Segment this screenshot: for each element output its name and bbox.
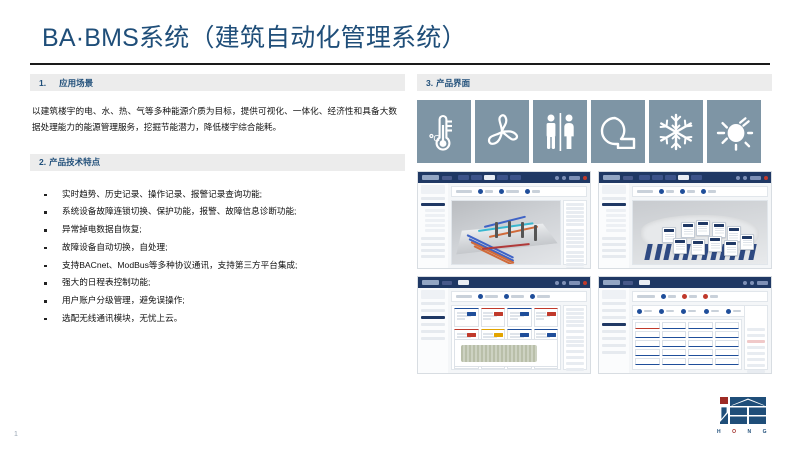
feature-bullet-list: 实时趋势、历史记录、操作记录、报警记录查询功能; 系统设备故障连锁切换、保护功能…	[30, 186, 405, 328]
sidebar-item[interactable]	[606, 209, 626, 212]
sidebar-item[interactable]	[425, 214, 445, 217]
tab[interactable]	[510, 175, 521, 180]
tab-active[interactable]	[458, 280, 469, 285]
logo-letter: G	[763, 429, 767, 435]
app-logo	[422, 175, 439, 180]
sidebar-header	[602, 290, 626, 299]
sidebar-item[interactable]	[421, 197, 445, 200]
app-tabbar[interactable]	[458, 175, 521, 180]
right-data-panel[interactable]	[744, 305, 768, 370]
sidebar-item[interactable]	[421, 330, 445, 333]
logo-letter: O	[732, 429, 736, 435]
floor-3d-device-tags-view[interactable]	[598, 171, 772, 269]
fan-blade-icon	[475, 100, 529, 163]
table-row[interactable]	[662, 322, 687, 329]
toolbar-stat[interactable]	[661, 294, 676, 299]
sidebar-item[interactable]	[421, 309, 445, 312]
list-item: 异常掉电数据自恢复;	[30, 221, 405, 239]
duct-3d-canvas[interactable]	[451, 200, 561, 265]
sidebar-item[interactable]	[602, 302, 626, 305]
section-number-1: 1.	[39, 78, 46, 88]
table-row[interactable]	[715, 331, 740, 338]
sidebar-item[interactable]	[602, 316, 626, 319]
interface-icon-strip: C	[417, 100, 772, 163]
right-column: 3. 产品界面 C	[417, 74, 772, 374]
tab[interactable]	[471, 175, 482, 180]
sidebar-item[interactable]	[421, 337, 445, 340]
list-item: 实时趋势、历史记录、操作记录、报警记录查询功能;	[30, 186, 405, 204]
user-menu[interactable]	[750, 176, 761, 180]
device-tag-card[interactable]	[708, 236, 722, 252]
sidebar-item[interactable]	[602, 330, 626, 333]
app-sidebar[interactable]	[599, 183, 630, 268]
left-column: 1. 应用场景 以建筑楼宇的电、水、热、气等多种能源介质为目标，提供可视化、一体…	[30, 74, 405, 327]
table-row[interactable]	[715, 322, 740, 329]
toolbar-stat[interactable]	[504, 294, 524, 299]
user-menu[interactable]	[569, 176, 580, 180]
sidebar-item[interactable]	[606, 224, 626, 227]
sidebar-item[interactable]	[602, 344, 626, 347]
device-card[interactable]	[507, 308, 532, 327]
sidebar-item[interactable]	[606, 229, 626, 232]
table-row[interactable]	[662, 340, 687, 347]
toolbar-stat[interactable]	[659, 189, 674, 194]
status-chip[interactable]	[681, 309, 696, 314]
app-tabbar[interactable]	[458, 280, 469, 285]
table-row[interactable]	[635, 358, 660, 365]
content-toolbar[interactable]	[451, 291, 587, 302]
device-tag-card[interactable]	[681, 222, 695, 238]
tab[interactable]	[691, 175, 702, 180]
sidebar-header	[602, 185, 626, 194]
section-title-interface: 产品界面	[436, 77, 470, 89]
table-row[interactable]	[688, 358, 713, 365]
page-title: BA·BMS系统（建筑自动化管理系统）	[42, 18, 467, 54]
list-item: 支持BACnet、ModBus等多种协议通讯，支持第三方平台集成;	[30, 257, 405, 275]
toolbar-title	[456, 295, 472, 298]
device-tag-card[interactable]	[724, 240, 738, 256]
tab-active[interactable]	[484, 175, 495, 180]
sidebar-item[interactable]	[421, 249, 445, 252]
floor-3d-canvas[interactable]	[632, 200, 768, 265]
table-row[interactable]	[715, 358, 740, 365]
table-row[interactable]	[662, 349, 687, 356]
sidebar-item-selected[interactable]	[421, 316, 445, 319]
logo-wordmark: H O N G	[717, 429, 767, 435]
sidebar-item[interactable]	[602, 237, 626, 240]
sidebar-item[interactable]	[606, 219, 626, 222]
title-divider	[30, 63, 770, 65]
table-row[interactable]	[715, 349, 740, 356]
user-menu[interactable]	[757, 281, 768, 285]
content-toolbar[interactable]	[632, 186, 768, 197]
sidebar-item[interactable]	[602, 197, 626, 200]
table-body	[635, 322, 739, 365]
section-title-scenario: 应用场景	[59, 77, 93, 89]
device-tag-card[interactable]	[740, 234, 754, 250]
device-tag-card[interactable]	[691, 239, 705, 255]
icon-button[interactable]	[555, 281, 559, 285]
tab-active[interactable]	[639, 280, 650, 285]
app-content	[448, 183, 590, 268]
status-chip[interactable]	[726, 309, 741, 314]
list-item: 系统设备故障连锁切换、保护功能，报警、故障信息诊断功能;	[30, 203, 405, 221]
equipment-table-list-view[interactable]	[598, 276, 772, 374]
sidebar-item-selected[interactable]	[421, 203, 445, 206]
app-sidebar[interactable]	[418, 183, 449, 268]
snowflake-cooling-icon	[649, 100, 703, 163]
icon-button[interactable]	[562, 176, 566, 180]
sidebar-header	[421, 290, 445, 299]
app-titlebar-actions[interactable]	[555, 176, 587, 180]
icon-button[interactable]	[562, 281, 566, 285]
device-tag-card[interactable]	[696, 220, 710, 236]
toolbar-stat[interactable]	[530, 294, 550, 299]
toolbar-stat-alarm[interactable]	[703, 294, 718, 299]
status-chip[interactable]	[659, 309, 674, 314]
equipment-table[interactable]	[632, 319, 742, 370]
sidebar-item[interactable]	[602, 309, 626, 312]
sidebar-item[interactable]	[421, 243, 445, 246]
toolbar-title	[637, 190, 653, 193]
scenario-paragraph: 以建筑楼宇的电、水、热、气等多种能源介质为目标，提供可视化、一体化、经济性和具备…	[30, 104, 405, 136]
company-logo: H O N G	[714, 396, 770, 438]
app-sidebar[interactable]	[418, 288, 449, 373]
toolbar-stat[interactable]	[525, 189, 540, 194]
list-item: 用户账户分级管理，避免误操作;	[30, 292, 405, 310]
table-row[interactable]	[662, 358, 687, 365]
app-tabbar[interactable]	[639, 280, 650, 285]
section-header-scenario: 1. 应用场景	[30, 74, 405, 91]
toolbar-stat[interactable]	[499, 189, 519, 194]
device-card[interactable]	[534, 308, 559, 327]
sidebar-item[interactable]	[602, 255, 626, 258]
card-grid-panel[interactable]	[451, 305, 561, 370]
section-header-interface: 3. 产品界面	[417, 74, 772, 91]
app-logo	[603, 175, 620, 180]
page-number: 1	[14, 431, 18, 438]
floor-3d-scene	[633, 201, 767, 264]
right-data-panel[interactable]	[563, 305, 587, 370]
app-titlebar-actions[interactable]	[743, 281, 768, 285]
table-row[interactable]	[635, 340, 660, 347]
thermometer-celsius-icon: C	[417, 100, 471, 163]
device-status-card-grid-view[interactable]	[417, 276, 591, 374]
section-title-features: 产品技术特点	[49, 156, 100, 168]
toolbar-stat[interactable]	[680, 189, 695, 194]
app-sidebar[interactable]	[599, 288, 630, 373]
device-card[interactable]	[481, 308, 506, 327]
icon-button[interactable]	[736, 176, 740, 180]
sidebar-item[interactable]	[606, 214, 626, 217]
restroom-occupancy-icon	[533, 100, 587, 163]
sidebar-item[interactable]	[425, 209, 445, 212]
tab[interactable]	[639, 175, 650, 180]
list-item: 故障设备自动切换，自处理;	[30, 239, 405, 257]
icon-button[interactable]	[743, 281, 747, 285]
toolbar-stat[interactable]	[478, 294, 498, 299]
icon-button[interactable]	[555, 176, 559, 180]
close-icon[interactable]	[583, 176, 587, 180]
sidebar-item[interactable]	[602, 351, 626, 354]
sidebar-item-selected[interactable]	[602, 323, 626, 326]
tab[interactable]	[458, 175, 469, 180]
table-row[interactable]	[635, 331, 660, 338]
sidebar-item[interactable]	[425, 224, 445, 227]
close-icon[interactable]	[764, 176, 768, 180]
table-row[interactable]	[662, 331, 687, 338]
table-row[interactable]	[688, 331, 713, 338]
toolbar-stat[interactable]	[478, 189, 493, 194]
table-row[interactable]	[688, 349, 713, 356]
app-logo	[603, 280, 620, 285]
section-header-features: 2. 产品技术特点	[30, 154, 405, 171]
app-content	[448, 288, 590, 373]
duct-3d-scene	[452, 201, 560, 264]
app-subtitle	[442, 176, 452, 180]
sidebar-item-selected[interactable]	[602, 203, 626, 206]
sidebar-item[interactable]	[602, 243, 626, 246]
app-subtitle	[623, 281, 633, 285]
app-titlebar-actions[interactable]	[736, 176, 768, 180]
sidebar-item[interactable]	[425, 229, 445, 232]
toolbar-title	[637, 295, 655, 298]
table-row[interactable]	[688, 340, 713, 347]
table-row[interactable]	[688, 322, 713, 329]
device-tag-card[interactable]	[673, 238, 687, 254]
slide-root: BA·BMS系统（建筑自动化管理系统） 1. 应用场景 以建筑楼宇的电、水、热、…	[0, 0, 800, 450]
status-chip[interactable]	[704, 309, 719, 314]
sidebar-item[interactable]	[421, 255, 445, 258]
tab[interactable]	[652, 175, 663, 180]
list-item: 强大的日程表控制功能;	[30, 274, 405, 292]
app-logo	[422, 280, 439, 285]
section-number-3: 3.	[426, 78, 433, 88]
status-chip[interactable]	[637, 309, 652, 314]
right-data-panel[interactable]	[563, 200, 587, 265]
sidebar-header	[421, 185, 445, 194]
toolbar-title	[456, 190, 472, 193]
table-row[interactable]	[715, 340, 740, 347]
app-content	[629, 183, 771, 268]
content-toolbar[interactable]	[451, 186, 587, 197]
sidebar-item[interactable]	[421, 302, 445, 305]
app-subtitle	[623, 176, 633, 180]
logo-mark	[714, 396, 770, 426]
icon-button[interactable]	[750, 281, 754, 285]
section-number-2: 2.	[39, 157, 46, 167]
sidebar-item[interactable]	[425, 219, 445, 222]
svg-text:C: C	[433, 133, 440, 143]
floor-plan-graphic	[461, 345, 536, 362]
sidebar-item[interactable]	[421, 237, 445, 240]
tab[interactable]	[497, 175, 508, 180]
sidebar-item[interactable]	[421, 323, 445, 326]
content-toolbar[interactable]	[632, 291, 768, 302]
product-screenshot-grid	[417, 171, 772, 374]
close-icon[interactable]	[583, 281, 587, 285]
hvac-3d-duct-view[interactable]	[417, 171, 591, 269]
tab-active[interactable]	[678, 175, 689, 180]
user-menu[interactable]	[569, 281, 580, 285]
list-item: 选配无线通讯模块，无忧上云。	[30, 310, 405, 328]
device-card[interactable]	[454, 308, 479, 327]
sidebar-item[interactable]	[602, 249, 626, 252]
blower-pump-icon	[591, 100, 645, 163]
app-subtitle	[442, 281, 452, 285]
logo-letter: H	[717, 429, 721, 435]
table-row[interactable]	[635, 349, 660, 356]
icon-button[interactable]	[743, 176, 747, 180]
logo-letter: N	[747, 429, 751, 435]
light-bulb-icon	[707, 100, 761, 163]
toolbar-stat-alarm[interactable]	[682, 294, 697, 299]
app-tabbar[interactable]	[639, 175, 702, 180]
app-content	[629, 288, 771, 373]
floor-plan-panel[interactable]	[454, 339, 558, 367]
tab[interactable]	[665, 175, 676, 180]
app-titlebar-actions[interactable]	[555, 281, 587, 285]
sidebar-item[interactable]	[602, 337, 626, 340]
table-row[interactable]	[635, 322, 660, 329]
toolbar-stat[interactable]	[701, 189, 716, 194]
